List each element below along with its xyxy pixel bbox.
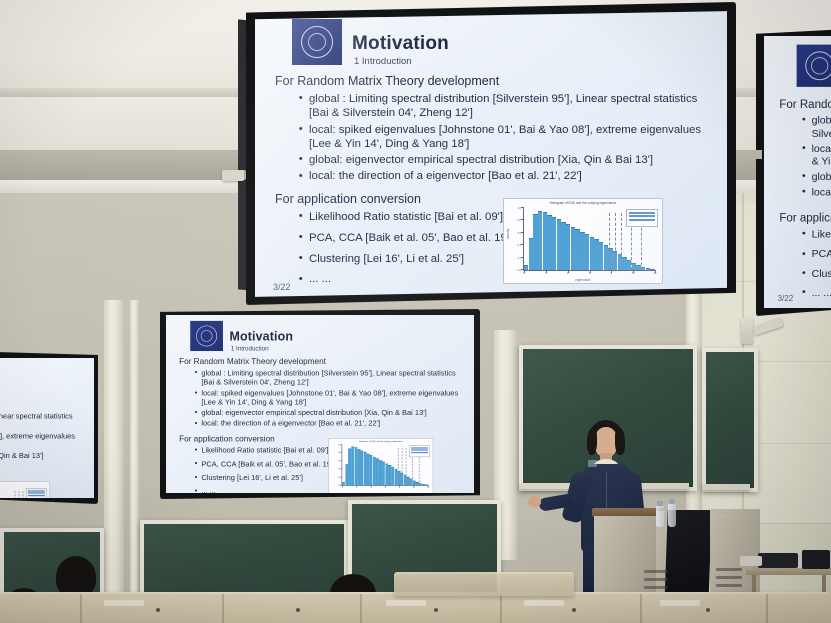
slide-section2-bullets: Likelihood Ratio statistic [Bai et al. 0…	[800, 228, 831, 300]
slide-section2-heading: For application conversion	[275, 192, 421, 206]
podium-vent	[644, 570, 668, 573]
ceiling-sensor	[222, 170, 244, 181]
chart-xlabel: eigenvalue	[575, 278, 590, 282]
chart-xtick-label: 12	[427, 487, 429, 489]
chart-outlier-line	[609, 213, 610, 270]
chart-outlier-line	[402, 448, 403, 485]
bullet-item: global: eigenvector empirical spectral d…	[297, 153, 717, 167]
chart-xtick-label: 0	[523, 272, 524, 275]
chart-ytick	[340, 477, 342, 478]
slide-page-number: 3/22	[777, 293, 793, 303]
slide-section2-bullets: Likelihood Ratio statistic [Bai et al. 0…	[297, 210, 527, 287]
left-display-screen: global : Limiting spectral distribution …	[0, 358, 94, 498]
chart-ytick-label: 0.2	[517, 257, 521, 260]
bullet-item: ... ...	[297, 272, 527, 287]
right-wall-bracket	[741, 318, 753, 344]
chart-ytick-label: 0.2	[338, 477, 340, 479]
chart-xtick-label: 10	[413, 487, 415, 489]
slide-section1-bullets: global : Limiting spectral distribution …	[0, 412, 85, 461]
bullet-item: local: spiked eigenvalues [Johnstone 01'…	[800, 143, 831, 169]
desk-row-front	[0, 592, 831, 623]
slide-section2-bullets: Likelihood Ratio statistic [Bai et al. 0…	[194, 446, 345, 493]
chart-ytick	[340, 444, 342, 445]
desk-fixing-dot	[706, 608, 710, 612]
chart-legend-swatch	[629, 219, 655, 221]
bullet-item: global: eigenvector empirical spectral d…	[194, 409, 469, 418]
chart-xtick-label: 8	[399, 487, 400, 489]
chart-ytick-label: 0.8	[517, 219, 521, 222]
equipment-box	[740, 556, 762, 566]
bullet-item: ... ...	[800, 286, 831, 300]
presenter-hair-right	[615, 428, 625, 455]
bullet-item: Likelihood Ratio statistic [Bai et al. 0…	[297, 210, 527, 225]
chart-ytick-label: 1.0	[517, 207, 521, 210]
chart-legend-swatch	[411, 449, 428, 450]
chalkboard-tray-right	[702, 484, 750, 490]
chart-title: Histogram of ESD and the outlying eigenv…	[329, 440, 432, 443]
bullet-item: global : Limiting spectral distribution …	[800, 115, 831, 141]
slide-section2-heading: For application conversion	[779, 211, 831, 224]
side-table	[746, 568, 831, 575]
bullet-item: local: spiked eigenvalues [Johnstone 01'…	[0, 432, 85, 451]
slide-section1-bullets: global : Limiting spectral distribution …	[297, 92, 717, 184]
seal-icon	[196, 325, 217, 346]
chart-outlier-line	[22, 491, 23, 498]
slide-section1-bullets: global : Limiting spectral distribution …	[194, 369, 469, 429]
left-display[interactable]: global : Limiting spectral distribution …	[0, 352, 98, 504]
bullet-item: Clustering [Lei 16', Li et al. 25']	[800, 267, 831, 281]
chart-ytick-label: 0.8	[338, 452, 340, 454]
chart-ytick	[521, 232, 524, 233]
wall-column-left-edge	[130, 300, 139, 623]
bullet-item: Likelihood Ratio statistic [Bai et al. 0…	[194, 446, 345, 456]
right-display-mount-arm	[748, 150, 762, 159]
lecture-hall-screenshot: Motivation 1 Introduction For Random Mat…	[0, 0, 831, 623]
bullet-item: global: eigenvector empirical spectral d…	[0, 452, 85, 461]
projector-unit	[758, 553, 798, 568]
slide-section1-heading: For Random Matrix Theory development	[179, 357, 326, 366]
seal-icon	[301, 26, 333, 58]
chart-xtick-label: 2	[356, 487, 357, 489]
chart-outlier-line	[18, 491, 19, 498]
chart-legend-swatch	[411, 452, 428, 453]
chart-ytick-label: 0.4	[338, 468, 340, 470]
chart-ytick	[340, 452, 342, 453]
chart-ytick-label: 0.6	[517, 232, 521, 235]
chart-outlier-line	[406, 448, 407, 485]
main-display-screen: Motivation 1 Introduction For Random Mat…	[255, 10, 727, 298]
desk-fixing-dot	[156, 608, 160, 612]
bullet-item: global: eigenvector empirical spectral d…	[800, 171, 831, 184]
water-bottle-left	[656, 505, 664, 527]
chart-outlier-line	[398, 448, 399, 485]
chart-xtick-label: 4	[370, 487, 371, 489]
slide-left-display: global : Limiting spectral distribution …	[0, 358, 91, 498]
chart-ylabel: density	[506, 229, 510, 239]
chart-legend-swatch	[629, 212, 655, 214]
bullet-item: local: spiked eigenvalues [Johnstone 01'…	[194, 389, 469, 408]
bullet-item: local: the direction of a eigenvector [B…	[297, 169, 717, 183]
bullet-item: PCA, CCA [Baik et al. 05', Bao et al. 19…	[800, 247, 831, 261]
chart-ytick	[521, 207, 524, 208]
slide-right-display: Motivation 1 Introduction For Random Mat…	[764, 36, 831, 308]
slide-lower-center: Motivation 1 Introduction For Random Mat…	[166, 315, 474, 493]
esd-histogram-chart: Histogram of ESD and the outlying eigenv…	[503, 198, 663, 284]
chart-legend-swatch	[28, 490, 45, 491]
chart-xtick-label: 2	[545, 272, 546, 275]
chart-ytick-label: 0.0	[338, 485, 340, 487]
presenter-badge	[588, 460, 597, 467]
right-display-screen: Motivation 1 Introduction For Random Mat…	[764, 36, 831, 308]
bullet-item: local: the direction of a eigenvector [B…	[800, 186, 831, 199]
esd-histogram-chart: 0.00.20.40.60.81.0024681012	[0, 481, 50, 498]
chart-legend-swatch	[629, 215, 655, 217]
bullet-item: Clustering [Lei 16', Li et al. 25']	[297, 252, 527, 267]
bullet-item: Clustering [Lei 16', Li et al. 25']	[194, 473, 345, 483]
chart-legend-swatch	[411, 447, 428, 448]
desk-fixing-dot	[572, 608, 576, 612]
chart-legend	[26, 488, 47, 498]
right-display[interactable]: Motivation 1 Introduction For Random Mat…	[756, 28, 831, 316]
desk-fixing-dot	[434, 608, 438, 612]
desk-tag	[386, 600, 426, 606]
chart-legend	[409, 445, 430, 457]
university-seal-logo	[292, 19, 342, 65]
chart-ytick	[521, 257, 524, 258]
water-bottle-cap-right	[669, 499, 675, 504]
speaker-box	[802, 550, 830, 569]
desk-row-second	[394, 572, 574, 596]
slide-section2-heading: For application conversion	[179, 434, 275, 443]
chart-ytick-label: 0.6	[338, 460, 340, 462]
slide-section1-heading: For Random Matrix Theory development	[275, 74, 499, 88]
chart-xtick-label: 8	[611, 272, 612, 275]
desk-tag	[104, 600, 144, 606]
bullet-item: global : Limiting spectral distribution …	[194, 369, 469, 388]
chart-xtick-label: 10	[632, 272, 635, 275]
desk-divider	[640, 594, 642, 623]
desk-tag	[660, 600, 700, 606]
chart-ytick-label: 1.0	[338, 444, 340, 446]
bullet-item: global : Limiting spectral distribution …	[0, 412, 85, 431]
esd-histogram-chart: Histogram of ESD and the outlying eigenv…	[328, 438, 433, 493]
main-display[interactable]: Motivation 1 Introduction For Random Mat…	[246, 2, 736, 305]
podium-brand-label: PROJ	[714, 514, 727, 520]
chart-ytick-label: 0.4	[517, 244, 521, 247]
bullet-item: local: the direction of a eigenvector [B…	[194, 419, 469, 428]
chart-legend-swatch	[28, 495, 45, 496]
desk-divider	[222, 594, 224, 623]
chart-ytick	[521, 244, 524, 245]
seal-icon	[805, 51, 831, 80]
slide-main: Motivation 1 Introduction For Random Mat…	[255, 10, 727, 298]
slide-section1-bullets: global : Limiting spectral distribution …	[800, 115, 831, 200]
podium-vent	[716, 568, 742, 571]
podium-vent	[644, 578, 668, 581]
podium-vent	[644, 586, 668, 589]
chart-outlier-line	[615, 213, 616, 270]
chart-legend	[626, 209, 658, 227]
desk-divider	[80, 594, 82, 623]
lower-center-display-screen: Motivation 1 Introduction For Random Mat…	[166, 315, 474, 493]
water-bottle-cap-left	[657, 501, 663, 506]
chart-xtick-label: 6	[385, 487, 386, 489]
chart-outlier-line	[14, 491, 15, 498]
desk-divider	[360, 594, 362, 623]
desk-fixing-dot	[296, 608, 300, 612]
chart-xtick-label: 0	[342, 487, 343, 489]
slide-section1-heading: For Random Matrix Theory development	[779, 97, 831, 110]
chart-ytick	[521, 219, 524, 220]
chart-xtick-label: 6	[589, 272, 590, 275]
desk-divider	[766, 594, 768, 623]
bullet-item: ... ...	[194, 487, 345, 493]
chart-xtick-label: 4	[567, 272, 568, 275]
chart-ytick	[340, 460, 342, 461]
bullet-item: Likelihood Ratio statistic [Bai et al. 0…	[800, 228, 831, 242]
university-seal-logo	[190, 321, 223, 351]
chart-ytick	[340, 468, 342, 469]
slide-title: Motivation	[230, 330, 294, 344]
chart-legend-swatch	[28, 492, 45, 493]
desk-tag	[524, 600, 564, 606]
bullet-item: local: spiked eigenvalues [Johnstone 01'…	[297, 123, 717, 152]
presenter-hair-left	[587, 428, 597, 455]
chart-ytick-label: 0.0	[517, 269, 521, 272]
podium-vent	[716, 584, 742, 587]
university-seal-logo	[797, 45, 831, 87]
bullet-item: global : Limiting spectral distribution …	[297, 92, 717, 121]
slide-page-number: 3/22	[273, 282, 291, 292]
chart-title: Histogram of ESD and the outlying eigenv…	[504, 201, 662, 205]
water-bottle-right	[668, 503, 676, 527]
chart-outlier-line	[621, 213, 622, 270]
bullet-item: PCA, CCA [Baik et al. 05', Bao et al. 19…	[194, 460, 345, 470]
presenter-hand-left	[528, 496, 541, 507]
slide-title: Motivation	[352, 33, 449, 55]
slide-subtitle: 1 Introduction	[354, 56, 412, 67]
desk-divider	[500, 594, 502, 623]
slide-subtitle: 1 Introduction	[231, 345, 269, 352]
bullet-item: PCA, CCA [Baik et al. 05', Bao et al. 19…	[297, 231, 527, 246]
lower-center-display[interactable]: Motivation 1 Introduction For Random Mat…	[160, 309, 480, 499]
podium-vent	[716, 576, 742, 579]
chart-xtick-label: 12	[654, 272, 657, 275]
chalkboard-right	[702, 348, 758, 492]
